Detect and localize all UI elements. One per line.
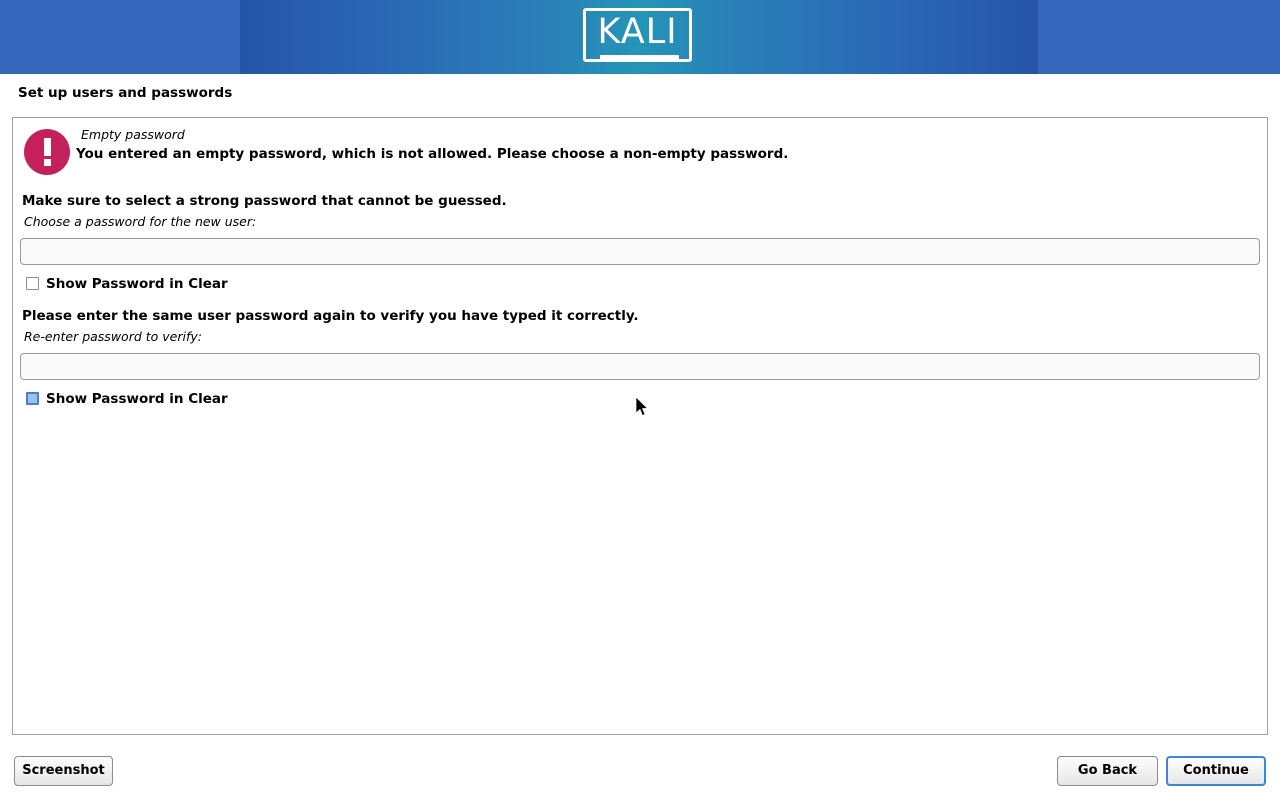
verify-password-input[interactable] [20,353,1260,380]
error-notice: Empty password You entered an empty pass… [13,118,1267,188]
error-message: You entered an empty password, which is … [76,146,788,162]
kali-banner: KALI [0,0,1280,74]
installer-window: KALI Set up users and passwords Empty pa… [0,0,1280,800]
page-title: Set up users and passwords [18,85,232,101]
password-field-label: Choose a password for the new user: [24,214,256,229]
error-title: Empty password [81,127,185,142]
verify-field-label: Re-enter password to verify: [24,329,202,344]
exclamation-dot [44,159,51,166]
verify-section-heading: Please enter the same user password agai… [22,308,639,324]
continue-button[interactable]: Continue [1166,756,1266,786]
screenshot-button[interactable]: Screenshot [14,756,113,786]
error-exclamation-icon [24,129,70,175]
kali-logo-text: KALI [583,8,692,56]
main-content-panel: Empty password You entered an empty pass… [12,117,1268,735]
go-back-button[interactable]: Go Back [1057,756,1158,786]
show-password-checkbox-2[interactable] [26,392,39,405]
show-password-label-2: Show Password in Clear [46,391,228,407]
password-input[interactable] [20,238,1260,265]
password-section-heading: Make sure to select a strong password th… [22,193,507,209]
show-password-label-1: Show Password in Clear [46,276,228,292]
kali-logo: KALI [583,8,696,66]
show-password-checkbox-1[interactable] [26,277,39,290]
exclamation-bar [44,138,51,156]
